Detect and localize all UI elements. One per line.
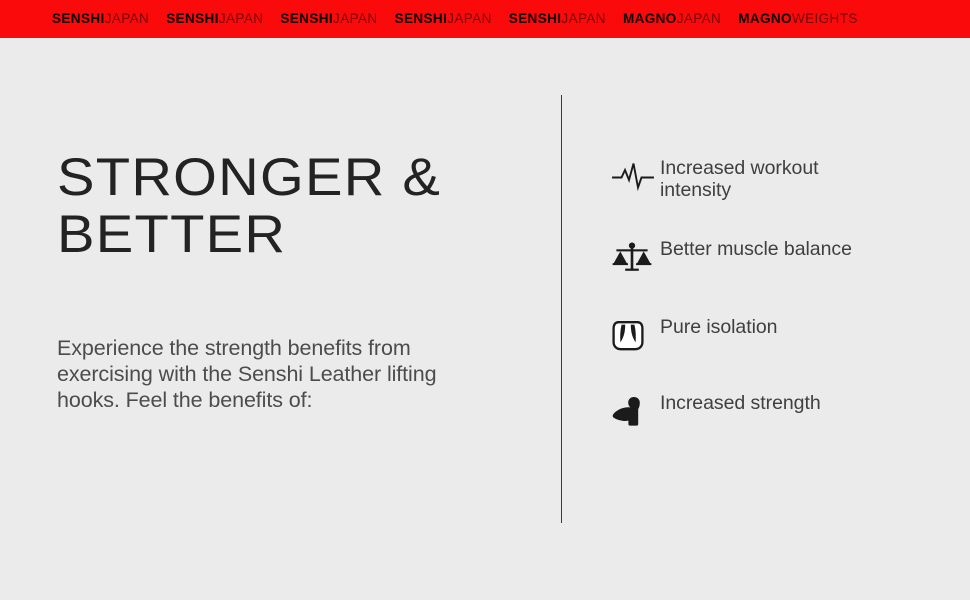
brand-marquee-item: MAGNO JAPAN xyxy=(623,12,721,26)
flexed-bicep-icon xyxy=(612,391,660,431)
benefit-item: Increased strength xyxy=(612,391,952,431)
brand-suffix: JAPAN xyxy=(105,12,150,26)
brand-name: SENSHI xyxy=(166,12,219,26)
brand-marquee-item: SENSHI JAPAN xyxy=(509,12,606,26)
brand-marquee-item: SENSHI JAPAN xyxy=(52,12,149,26)
brand-suffix: JAPAN xyxy=(677,12,722,26)
brand-marquee-item: SENSHI JAPAN xyxy=(395,12,492,26)
benefit-item: Better muscle balance xyxy=(612,237,952,277)
page-title: STRONGER & BETTER xyxy=(57,38,555,263)
left-column: STRONGER & BETTER Experience the strengt… xyxy=(57,38,527,413)
heartbeat-pulse-icon xyxy=(612,156,660,196)
benefit-item: Pure isolation xyxy=(612,315,952,355)
benefit-item: Increased workout intensity xyxy=(612,156,952,201)
brand-suffix: WEIGHTS xyxy=(792,12,858,26)
brand-name: MAGNO xyxy=(738,12,792,26)
brand-name: SENSHI xyxy=(509,12,562,26)
brand-marquee-track: SENSHI JAPAN SENSHI JAPAN SENSHI JAPAN S… xyxy=(0,12,858,26)
chest-muscle-icon xyxy=(612,315,660,355)
brand-marquee-banner: SENSHI JAPAN SENSHI JAPAN SENSHI JAPAN S… xyxy=(0,0,970,38)
brand-suffix: JAPAN xyxy=(561,12,606,26)
intro-paragraph: Experience the strength benefits from ex… xyxy=(57,263,472,413)
brand-marquee-item: SENSHI JAPAN xyxy=(166,12,263,26)
brand-name: SENSHI xyxy=(280,12,333,26)
benefit-label: Better muscle balance xyxy=(660,237,952,261)
brand-marquee-item: SENSHI JAPAN xyxy=(280,12,377,26)
brand-name: MAGNO xyxy=(623,12,677,26)
brand-suffix: JAPAN xyxy=(219,12,264,26)
benefits-list: Increased workout intensity Better muscl… xyxy=(612,156,952,431)
benefit-label: Increased strength xyxy=(660,391,952,415)
benefit-label: Increased workout intensity xyxy=(660,156,952,201)
benefit-label: Pure isolation xyxy=(660,315,952,339)
vertical-divider xyxy=(561,95,562,523)
brand-name: SENSHI xyxy=(52,12,105,26)
balance-scale-icon xyxy=(612,237,660,277)
brand-marquee-item: MAGNO WEIGHTS xyxy=(738,12,858,26)
brand-name: SENSHI xyxy=(395,12,448,26)
brand-suffix: JAPAN xyxy=(447,12,492,26)
brand-suffix: JAPAN xyxy=(333,12,378,26)
main-content: STRONGER & BETTER Experience the strengt… xyxy=(0,38,970,600)
